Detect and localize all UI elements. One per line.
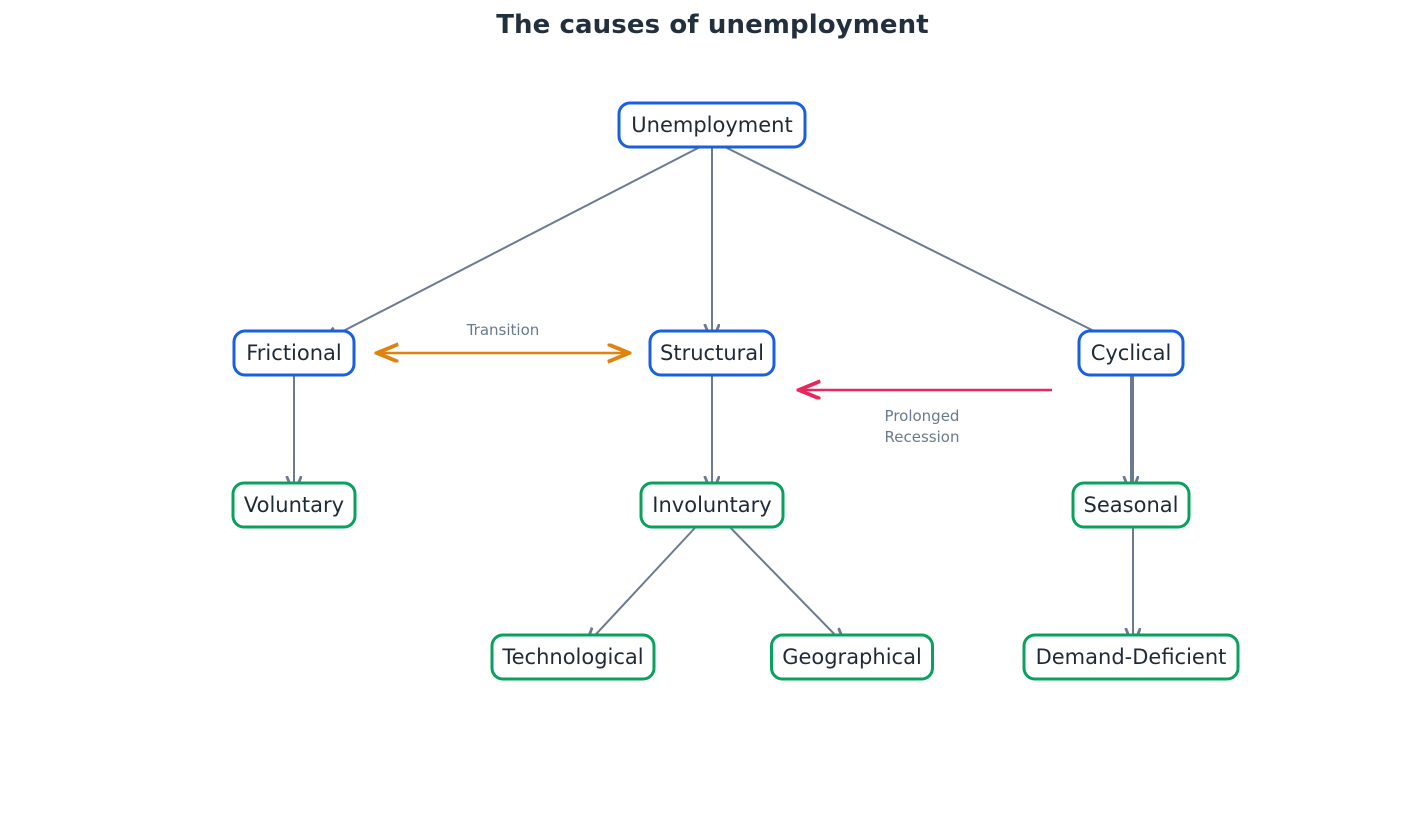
diagram-root: The causes of unemployment UnemploymentF…	[0, 0, 1425, 825]
node-cyclical[interactable]: Cyclical	[1079, 331, 1183, 375]
node-label-unemployment: Unemployment	[631, 113, 792, 137]
node-involuntary[interactable]: Involuntary	[641, 483, 783, 527]
node-label-frictional: Frictional	[246, 341, 342, 365]
node-frictional[interactable]: Frictional	[234, 331, 354, 375]
edge-unemployment-frictional	[322, 147, 700, 342]
recession-label-line1: Prolonged	[885, 407, 960, 425]
node-unemployment[interactable]: Unemployment	[619, 103, 805, 147]
edge-unemployment-cyclical	[725, 147, 1122, 345]
edge-involuntary-geographical	[719, 516, 845, 645]
node-label-voluntary: Voluntary	[244, 493, 344, 517]
node-label-involuntary: Involuntary	[652, 493, 771, 517]
transition-label: Transition	[466, 321, 540, 339]
node-seasonal[interactable]: Seasonal	[1073, 483, 1189, 527]
node-label-cyclical: Cyclical	[1091, 341, 1172, 365]
node-label-structural: Structural	[660, 341, 764, 365]
nodes-layer: UnemploymentFrictionalStructuralCyclical…	[233, 103, 1238, 679]
node-structural[interactable]: Structural	[650, 331, 774, 375]
node-voluntary[interactable]: Voluntary	[233, 483, 355, 527]
node-label-seasonal: Seasonal	[1084, 493, 1179, 517]
edges-layer	[294, 147, 1133, 645]
recession-label-line2: Recession	[885, 428, 960, 446]
node-technological[interactable]: Technological	[492, 635, 654, 679]
diagram-canvas: UnemploymentFrictionalStructuralCyclical…	[0, 0, 1425, 825]
node-demand_deficient[interactable]: Demand-Deficient	[1024, 635, 1238, 679]
node-label-geographical: Geographical	[782, 645, 922, 669]
node-label-technological: Technological	[501, 645, 643, 669]
edge-involuntary-technological	[586, 516, 706, 645]
node-geographical[interactable]: Geographical	[772, 635, 933, 679]
node-label-demand_deficient: Demand-Deficient	[1036, 645, 1227, 669]
